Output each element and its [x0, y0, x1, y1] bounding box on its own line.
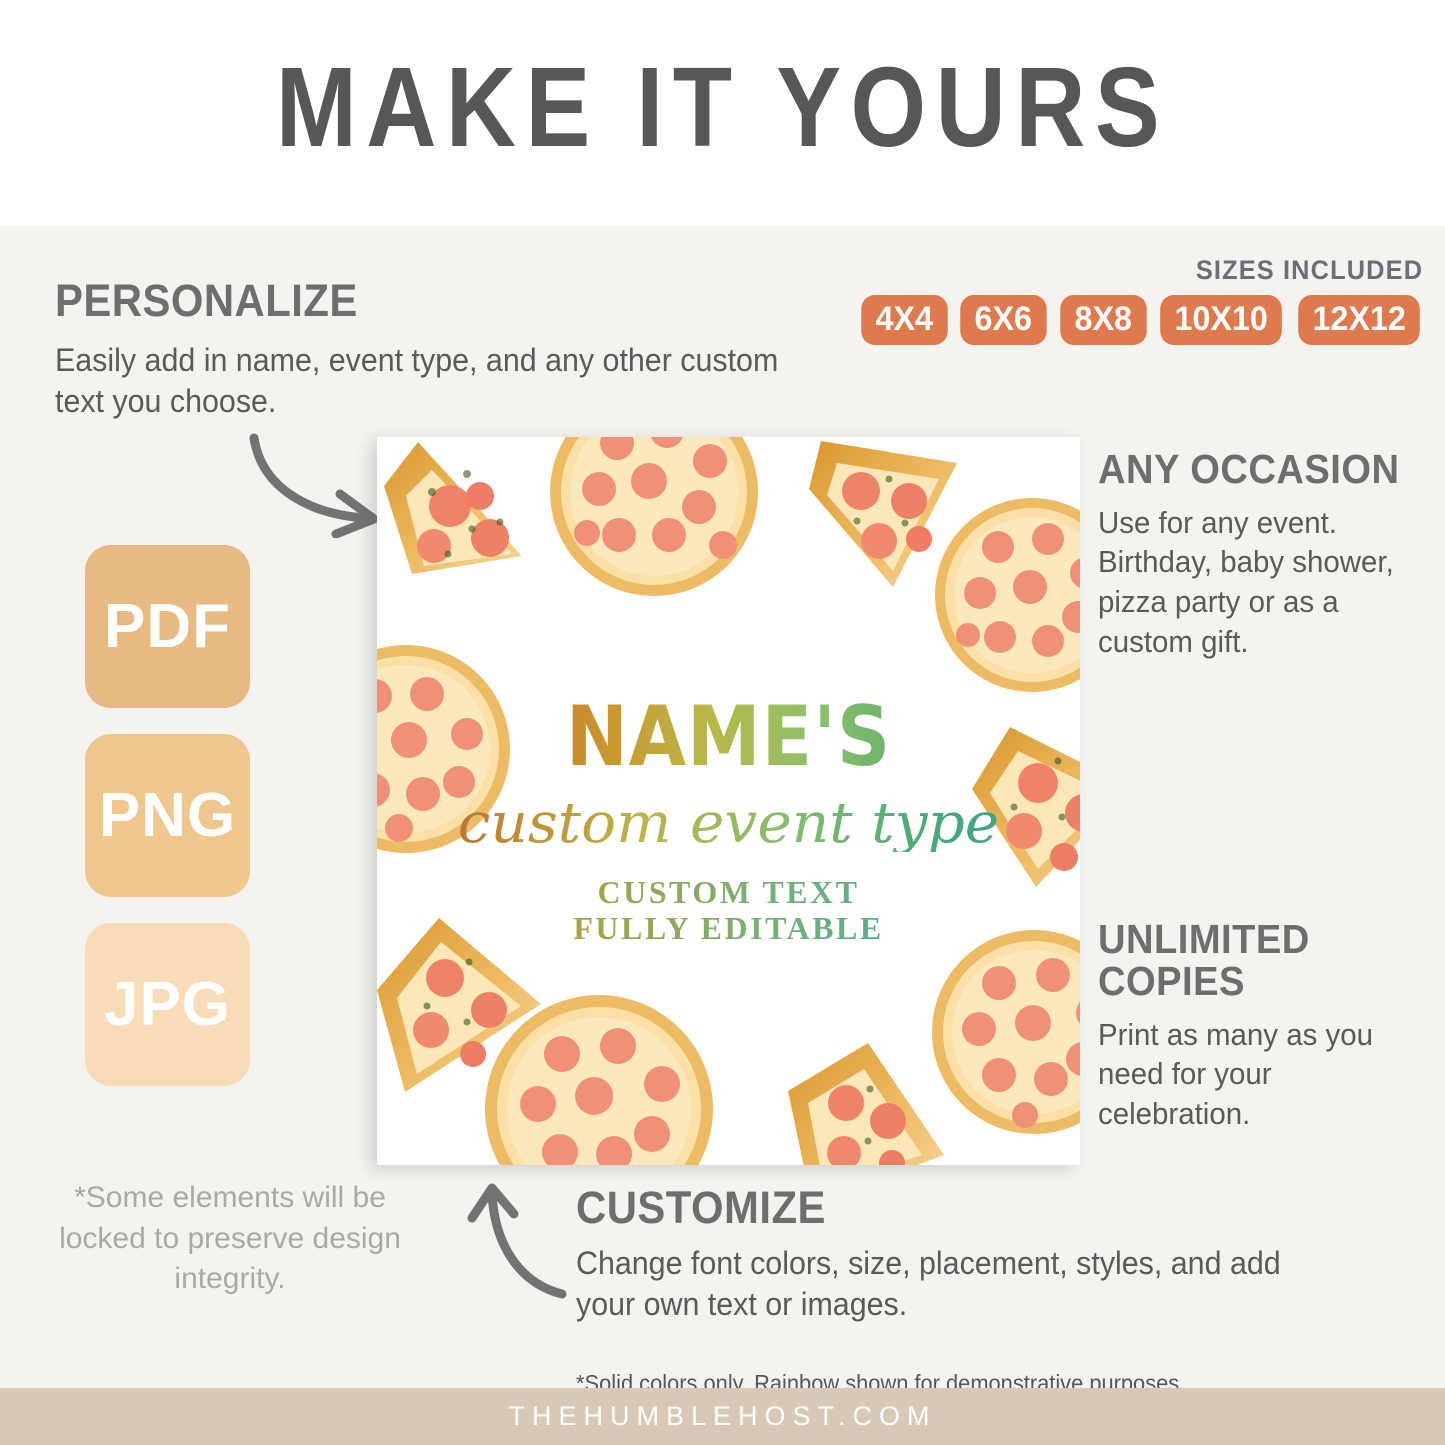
personalize-body: Easily add in name, event type, and any …: [55, 340, 787, 422]
size-badge-4x4[interactable]: 4X4: [861, 295, 947, 345]
unlimited-copies-heading: UNLIMITED COPIES: [1098, 919, 1405, 1003]
customize-body: Change font colors, size, placement, sty…: [576, 1243, 1336, 1325]
product-listing-page: MAKE IT YOURS PERSONALIZE Easily add in …: [0, 0, 1445, 1445]
size-badge-10x10[interactable]: 10X10: [1161, 295, 1283, 345]
pizza-slice-icon: [377, 437, 552, 604]
header-band: MAKE IT YOURS: [0, 0, 1445, 226]
whole-pizza-icon: [482, 992, 717, 1165]
size-badge-12x12[interactable]: 12X12: [1298, 295, 1420, 345]
footer-website[interactable]: THEHUMBLEHOST.COM: [508, 1401, 936, 1432]
unlimited-copies-section: UNLIMITED COPIES Print as many as you ne…: [1098, 919, 1428, 1134]
customize-heading: CUSTOMIZE: [576, 1185, 1320, 1231]
pizza-slice-icon: [952, 717, 1080, 907]
size-badge-6x6[interactable]: 6X6: [961, 295, 1047, 345]
format-badge-pdf[interactable]: PDF: [85, 545, 250, 708]
size-badge-8x8[interactable]: 8X8: [1060, 295, 1146, 345]
whole-pizza-icon: [547, 437, 762, 600]
product-preview-card[interactable]: NAME'S custom event type CUSTOM TEXT FUL…: [377, 437, 1080, 1165]
format-badge-jpg[interactable]: JPG: [85, 923, 250, 1086]
unlimited-copies-body: Print as many as you need for your celeb…: [1098, 1015, 1412, 1134]
size-badge-list: 4X4 6X6 8X8 10X10 12X12: [859, 295, 1423, 345]
personalize-section: PERSONALIZE Easily add in name, event ty…: [55, 278, 855, 422]
page-title: MAKE IT YOURS: [101, 48, 1344, 167]
sizes-included-label: SIZES INCLUDED: [893, 255, 1423, 286]
format-badge-png[interactable]: PNG: [85, 734, 250, 897]
footer-bar: THEHUMBLEHOST.COM: [0, 1388, 1445, 1445]
file-format-badge-list: PDF PNG JPG: [85, 545, 250, 1086]
any-occasion-body: Use for any event. Birthday, baby shower…: [1098, 503, 1412, 662]
whole-pizza-icon: [377, 642, 514, 857]
arrow-pointing-up-to-card-icon: [462, 1172, 587, 1317]
any-occasion-heading: ANY OCCASION: [1098, 449, 1405, 491]
any-occasion-section: ANY OCCASION Use for any event. Birthday…: [1098, 449, 1428, 662]
personalize-heading: PERSONALIZE: [55, 278, 799, 324]
customize-section: CUSTOMIZE Change font colors, size, plac…: [576, 1185, 1376, 1325]
whole-pizza-icon: [932, 495, 1080, 695]
locked-elements-note: *Some elements will be locked to preserv…: [30, 1178, 430, 1300]
sizes-included-section: SIZES INCLUDED 4X4 6X6 8X8 10X10 12X12: [859, 255, 1423, 345]
whole-pizza-icon: [929, 927, 1080, 1137]
